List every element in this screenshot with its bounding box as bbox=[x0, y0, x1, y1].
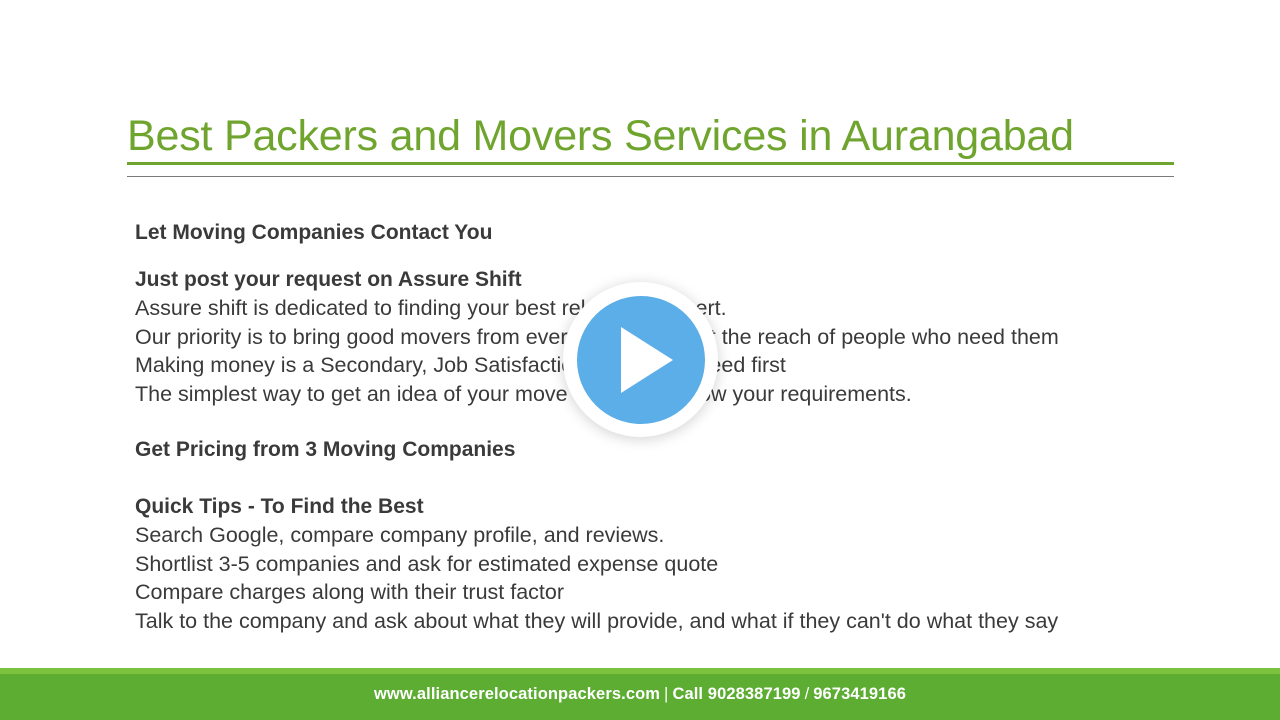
heading-get-pricing: Get Pricing from 3 Moving Companies bbox=[135, 436, 1245, 465]
body-content: Let Moving Companies Contact You Just po… bbox=[135, 219, 1245, 635]
heading-let-moving-companies: Let Moving Companies Contact You bbox=[135, 219, 1245, 248]
footer-website: www.alliancerelocationpackers.com bbox=[374, 685, 660, 703]
play-icon bbox=[577, 296, 705, 424]
play-button[interactable] bbox=[563, 282, 718, 437]
footer-bar: www.alliancerelocationpackers.com|Call 9… bbox=[0, 668, 1280, 720]
footer-separator: | bbox=[660, 685, 672, 703]
footer-phone-2: 9673419166 bbox=[813, 685, 906, 703]
spacer bbox=[135, 248, 1245, 266]
heading-quick-tips: Quick Tips - To Find the Best bbox=[135, 493, 1245, 522]
heading-just-post-request: Just post your request on Assure Shift bbox=[135, 266, 1245, 295]
tip-line: Search Google, compare company profile, … bbox=[135, 521, 1245, 550]
footer-call-label: Call bbox=[672, 685, 703, 703]
page-title: Best Packers and Movers Services in Aura… bbox=[127, 112, 1174, 165]
title-divider bbox=[127, 176, 1174, 177]
tip-line: Talk to the company and ask about what t… bbox=[135, 607, 1245, 636]
tip-line: Compare charges along with their trust f… bbox=[135, 578, 1245, 607]
footer-contact-text: www.alliancerelocationpackers.com|Call 9… bbox=[374, 685, 906, 704]
play-triangle-icon bbox=[621, 327, 673, 393]
footer-phone-slash: / bbox=[801, 685, 814, 703]
tip-line: Shortlist 3-5 companies and ask for esti… bbox=[135, 550, 1245, 579]
footer-phone-1: 9028387199 bbox=[708, 685, 801, 703]
presentation-slide: Best Packers and Movers Services in Aura… bbox=[0, 0, 1280, 720]
title-block: Best Packers and Movers Services in Aura… bbox=[127, 112, 1174, 177]
spacer bbox=[135, 465, 1245, 493]
